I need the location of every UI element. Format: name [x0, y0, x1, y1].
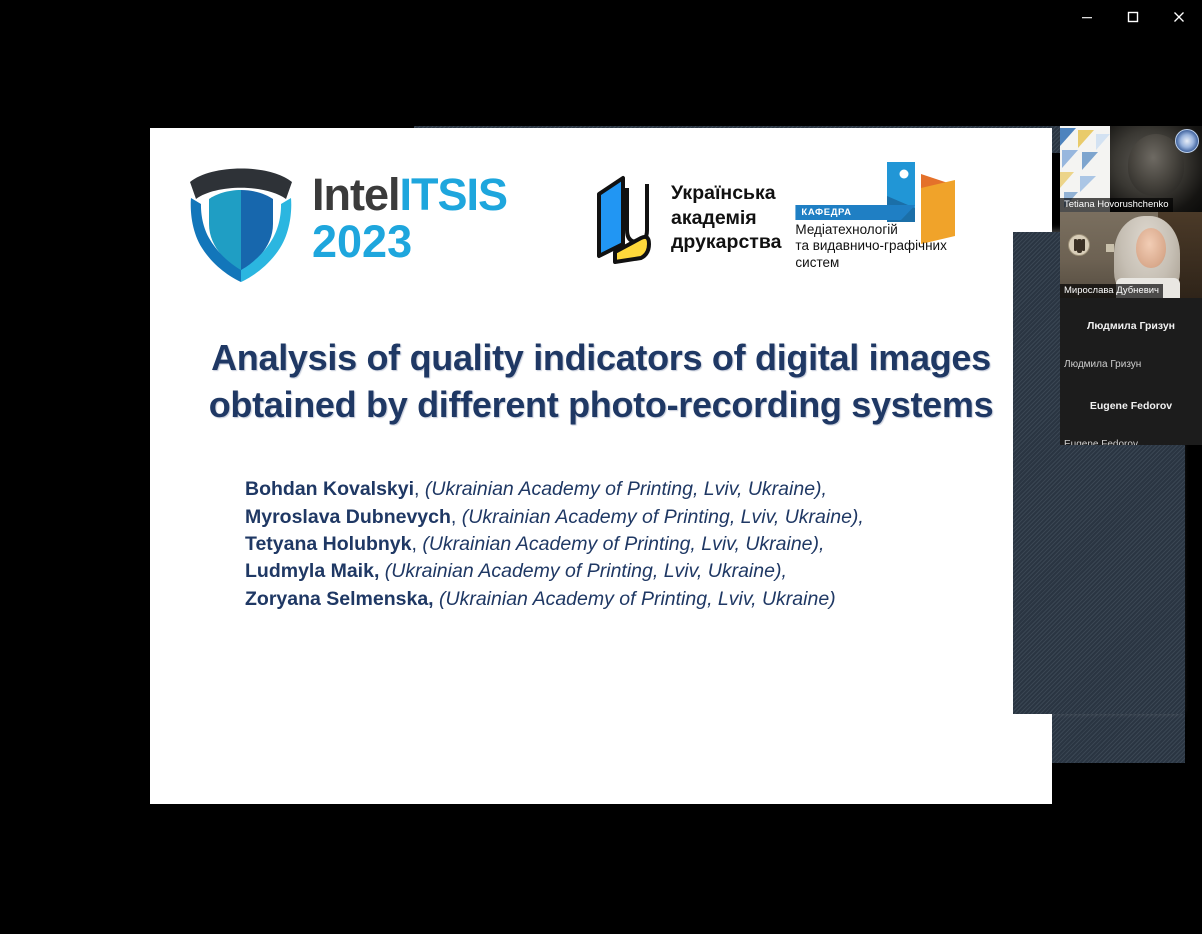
shield-icon	[176, 154, 306, 282]
author-affiliation: (Ukrainian Academy of Printing, Lviv, Uk…	[422, 533, 824, 555]
participant-filmstrip[interactable]: Tetiana Hovorushchenko Мирослава Дубневи…	[1060, 126, 1202, 445]
participant-tile-tetiana[interactable]: Tetiana Hovorushchenko	[1060, 126, 1202, 212]
slide-title-line-1: Analysis of quality indicators of digita…	[162, 334, 1040, 381]
uad-wordmark: Українська академія друкарства	[671, 181, 781, 256]
participant-face	[1136, 228, 1166, 268]
uad-line-3: друкарства	[671, 230, 781, 255]
department-line-2: та видавничо-графічних	[795, 238, 971, 254]
close-icon	[1172, 10, 1186, 24]
department-line-3: систем	[795, 255, 971, 271]
author-affiliation: (Ukrainian Academy of Printing, Lviv, Uk…	[385, 560, 787, 582]
author-affiliation: (Ukrainian Academy of Printing, Lviv, Uk…	[462, 506, 864, 528]
participant-name: Tetiana Hovorushchenko	[1060, 198, 1173, 212]
author-row: Zoryana Selmenska, (Ukrainian Academy of…	[245, 586, 1052, 613]
intelitsis-name-itsis: ITSIS	[400, 169, 508, 220]
author-name: Ludmyla Maik,	[245, 560, 379, 582]
participant-name-center: Людмила Гризун	[1060, 320, 1202, 332]
department-logo: КАФЕДРА Медіатехнологій та видавничо-гра…	[795, 158, 971, 278]
intelitsis-wordmark: IntelITSIS 2023	[312, 173, 507, 263]
wall-frame	[1106, 244, 1114, 252]
participant-video: Tetiana Hovorushchenko	[1060, 126, 1202, 212]
author-affiliation: (Ukrainian Academy of Printing, Lviv, Uk…	[439, 588, 836, 610]
participant-tile-ludmyla[interactable]: Людмила Гризун Людмила Гризун	[1060, 298, 1202, 378]
screen-root: IntelITSIS 2023 Українська академія друк…	[0, 0, 1202, 934]
author-name: Tetyana Holubnyk	[245, 533, 412, 555]
slide-title-line-2: obtained by different photo-recording sy…	[162, 381, 1040, 428]
intelitsis-name-intel: Intel	[312, 169, 400, 220]
uad-logo: Українська академія друкарства	[593, 172, 781, 264]
window-titlebar	[0, 0, 1202, 34]
author-row: Myroslava Dubnevych, (Ukrainian Academy …	[245, 504, 1052, 531]
uad-line-2: академія	[671, 206, 781, 231]
author-row: Ludmyla Maik, (Ukrainian Academy of Prin…	[245, 558, 1052, 585]
author-name: Myroslava Dubnevych	[245, 506, 451, 528]
intelitsis-year: 2023	[312, 220, 507, 263]
author-separator: ,	[414, 478, 419, 500]
department-wordmark: Медіатехнологій та видавничо-графічних с…	[795, 222, 971, 271]
audio-only-pane: Людмила Гризун Людмила Гризун Eugene Fed…	[1060, 298, 1202, 445]
close-button[interactable]	[1156, 1, 1202, 33]
participant-name: Людмила Гризун	[1064, 359, 1141, 370]
tree-emblem-icon	[1068, 234, 1090, 256]
author-name: Zoryana Selmenska,	[245, 588, 434, 610]
presentation-slide: IntelITSIS 2023 Українська академія друк…	[150, 128, 1052, 804]
author-row: Tetyana Holubnyk, (Ukrainian Academy of …	[245, 531, 1052, 558]
participant-tile-myroslava[interactable]: Мирослава Дубневич	[1060, 212, 1202, 298]
author-separator: ,	[451, 506, 456, 528]
maximize-icon	[1126, 10, 1140, 24]
participant-name: Мирослава Дубневич	[1060, 284, 1163, 298]
minimize-button[interactable]	[1064, 1, 1110, 33]
author-list: Bohdan Kovalskyi, (Ukrainian Academy of …	[150, 476, 1052, 612]
slide-title: Analysis of quality indicators of digita…	[150, 334, 1052, 428]
author-separator: ,	[412, 533, 417, 555]
author-name: Bohdan Kovalskyi	[245, 478, 414, 500]
uad-line-1: Українська	[671, 181, 781, 206]
intelitsis-logo: IntelITSIS 2023	[176, 154, 507, 282]
book-icon	[593, 172, 659, 264]
maximize-button[interactable]	[1110, 1, 1156, 33]
university-emblem-icon	[1175, 129, 1199, 153]
department-badge: КАФЕДРА	[795, 205, 915, 220]
participant-name: Eugene Fedorov	[1064, 439, 1138, 445]
author-row: Bohdan Kovalskyi, (Ukrainian Academy of …	[245, 476, 1052, 503]
minimize-icon	[1080, 10, 1094, 24]
intelitsis-name: IntelITSIS	[312, 173, 507, 216]
department-line-1: Медіатехнологій	[795, 222, 971, 238]
author-affiliation: (Ukrainian Academy of Printing, Lviv, Uk…	[425, 478, 827, 500]
participant-video: Мирослава Дубневич	[1060, 212, 1202, 298]
slide-header: IntelITSIS 2023 Українська академія друк…	[150, 128, 1052, 308]
participant-tile-eugene[interactable]: Eugene Fedorov Eugene Fedorov	[1060, 378, 1202, 445]
participant-name-center: Eugene Fedorov	[1060, 400, 1202, 412]
